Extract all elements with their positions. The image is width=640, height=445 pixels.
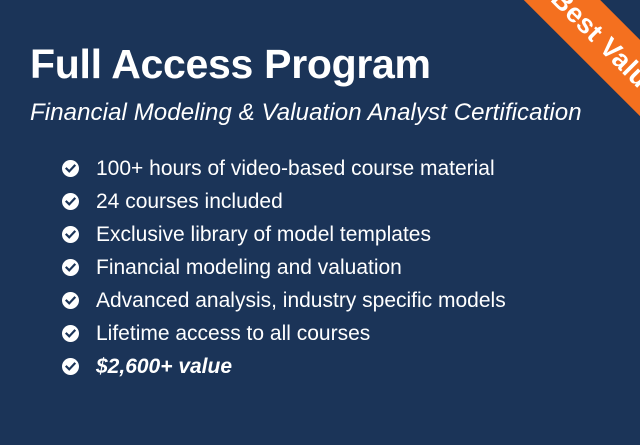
full-access-program-card: Best Value Full Access Program Financial…	[0, 0, 640, 445]
feature-item: 100+ hours of video-based course materia…	[62, 152, 506, 185]
check-circle-icon	[62, 193, 79, 210]
check-circle-icon	[62, 259, 79, 276]
feature-list: 100+ hours of video-based course materia…	[62, 152, 506, 383]
feature-label: Lifetime access to all courses	[96, 323, 370, 344]
feature-item: Financial modeling and valuation	[62, 251, 506, 284]
check-circle-icon	[62, 160, 79, 177]
page-subtitle: Financial Modeling & Valuation Analyst C…	[30, 99, 582, 127]
feature-label: 100+ hours of video-based course materia…	[96, 158, 495, 179]
feature-label: $2,600+ value	[96, 356, 232, 377]
ribbon-band: Best Value	[484, 0, 640, 166]
check-circle-icon	[62, 358, 79, 375]
feature-label: Advanced analysis, industry specific mod…	[96, 290, 506, 311]
feature-item: $2,600+ value	[62, 350, 506, 383]
feature-label: Exclusive library of model templates	[96, 224, 431, 245]
check-circle-icon	[62, 292, 79, 309]
feature-item: 24 courses included	[62, 185, 506, 218]
feature-label: 24 courses included	[96, 191, 283, 212]
feature-item: Exclusive library of model templates	[62, 218, 506, 251]
feature-item: Lifetime access to all courses	[62, 317, 506, 350]
check-circle-icon	[62, 226, 79, 243]
feature-item: Advanced analysis, industry specific mod…	[62, 284, 506, 317]
ribbon-label: Best Value	[545, 0, 640, 105]
feature-label: Financial modeling and valuation	[96, 257, 402, 278]
page-title: Full Access Program	[30, 41, 431, 88]
check-circle-icon	[62, 325, 79, 342]
